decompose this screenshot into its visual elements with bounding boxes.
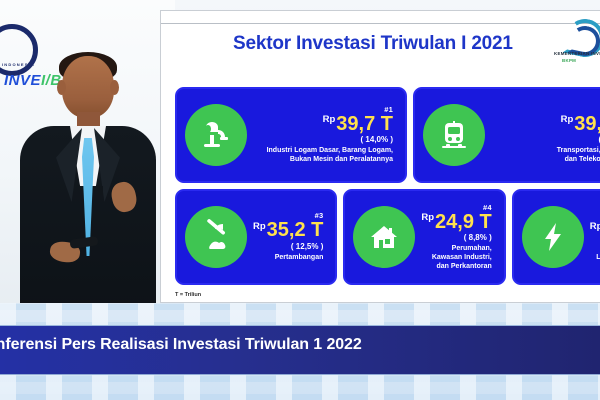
sector-card-1-percent: ( 14,0% ) [253, 135, 393, 144]
speaker-ear-right [110, 80, 119, 95]
sector-card-1[interactable]: #1 Rp39,7 T ( 14,0% ) Industri Logam Das… [175, 87, 407, 183]
sector-card-4-percent: ( 8,8% ) [421, 233, 491, 242]
kementerian-investasi-logo: KEMENTERIAN INVESTASI BKPM [554, 17, 600, 73]
sector-card-4-currency: Rp [421, 212, 434, 223]
sector-card-2-currency: Rp [561, 114, 574, 125]
sector-card-3-currency: Rp [253, 221, 266, 232]
train-icon [423, 104, 485, 166]
sector-card-1-info: #1 Rp39,7 T ( 14,0% ) Industri Logam Das… [253, 105, 397, 165]
sector-card-3-amount: Rp35,2 T [253, 220, 323, 240]
lower-graphics-area: onferensi Pers Realisasi Investasi Triwu… [0, 303, 600, 400]
sector-card-4[interactable]: #4 Rp24,9 T ( 8,8% ) Perumahan, Kawasan … [343, 189, 505, 285]
sector-cards: #1 Rp39,7 T ( 14,0% ) Industri Logam Das… [175, 87, 600, 291]
sector-card-5-rank: #5 [590, 211, 600, 220]
sector-cards-row-top: #1 Rp39,7 T ( 14,0% ) Industri Logam Das… [175, 87, 600, 183]
pickaxe-icon [185, 206, 247, 268]
sector-card-5-label-line1: Listrik, Gas dan Air [590, 254, 600, 263]
logo-label-line1: KEMENTERIAN INVESTASI [554, 51, 600, 56]
speaker-lapel-microphone-icon [98, 186, 103, 195]
sector-card-2-info: #2 Rp39,5 T ( 14,0% ) Transportasi, Guda… [491, 105, 600, 165]
sector-card-4-value: 24,9 T [435, 211, 492, 233]
speaker-head [62, 56, 114, 118]
sector-card-3[interactable]: #3 Rp35,2 T ( 12,5% ) Pertambangan [175, 189, 337, 285]
sector-card-1-currency: Rp [323, 114, 336, 125]
sector-card-5-currency: Rp [590, 221, 600, 232]
lower-third-title: onferensi Pers Realisasi Investasi Triwu… [0, 336, 600, 354]
sector-card-4-amount: Rp24,9 T [421, 212, 491, 232]
sector-card-2-label-line1: Transportasi, Gudang, [491, 147, 600, 156]
slide-footnote: T = Triliun [175, 292, 201, 298]
sector-card-1-amount: Rp39,7 T [253, 114, 393, 134]
speaker-ear-left [57, 80, 66, 95]
house-icon [353, 206, 415, 268]
sector-card-2[interactable]: #2 Rp39,5 T ( 14,0% ) Transportasi, Guda… [413, 87, 600, 183]
sector-card-4-label-line1: Perumahan, [421, 245, 491, 254]
sector-card-3-percent: ( 12,5% ) [253, 242, 323, 251]
sector-card-5[interactable]: #5 Rp23,1 T ( 8,2% ) Listrik, Gas dan Ai… [512, 189, 600, 285]
sector-card-3-info: #3 Rp35,2 T ( 12,5% ) Pertambangan [253, 211, 327, 262]
sector-card-1-label-line2: Bukan Mesin dan Peralatannya [253, 156, 393, 165]
lightning-bolt-icon [522, 206, 584, 268]
sector-cards-row-bottom: #3 Rp35,2 T ( 12,5% ) Pertambangan [175, 189, 600, 285]
sector-card-5-percent: ( 8,2% ) [590, 242, 600, 251]
sector-card-1-value: 39,7 T [336, 113, 393, 135]
speaker-person [22, 56, 150, 310]
sector-card-4-label-line2: Kawasan Industri, dan Perkantoran [421, 254, 491, 272]
sector-card-2-label-line2: dan Telekomunikasi [491, 156, 600, 165]
metal-industry-icon [185, 104, 247, 166]
slide-top-divider [161, 23, 600, 24]
slide-title: Sektor Investasi Triwulan I 2021 [233, 33, 513, 55]
sector-card-5-amount: Rp23,1 T [590, 220, 600, 240]
presentation-slide: Sektor Investasi Triwulan I 2021 KEMENTE… [160, 10, 600, 303]
sector-card-3-value: 35,2 T [267, 219, 324, 241]
sector-card-4-info: #4 Rp24,9 T ( 8,8% ) Perumahan, Kawasan … [421, 203, 495, 272]
sector-card-3-label-line1: Pertambangan [253, 254, 323, 263]
sector-card-2-value: 39,5 T [574, 113, 600, 135]
logo-label-line2: BKPM [562, 58, 576, 63]
sector-card-2-percent: ( 14,0% ) [491, 135, 600, 144]
broadcast-screen: INDONESIA N INVEI/BKPM Sektor Investasi … [0, 0, 600, 400]
sector-card-2-amount: Rp39,5 T [491, 114, 600, 134]
sector-card-1-label-line1: Industri Logam Dasar, Barang Logam, [253, 147, 393, 156]
sector-card-5-info: #5 Rp23,1 T ( 8,2% ) Listrik, Gas dan Ai… [590, 211, 600, 262]
